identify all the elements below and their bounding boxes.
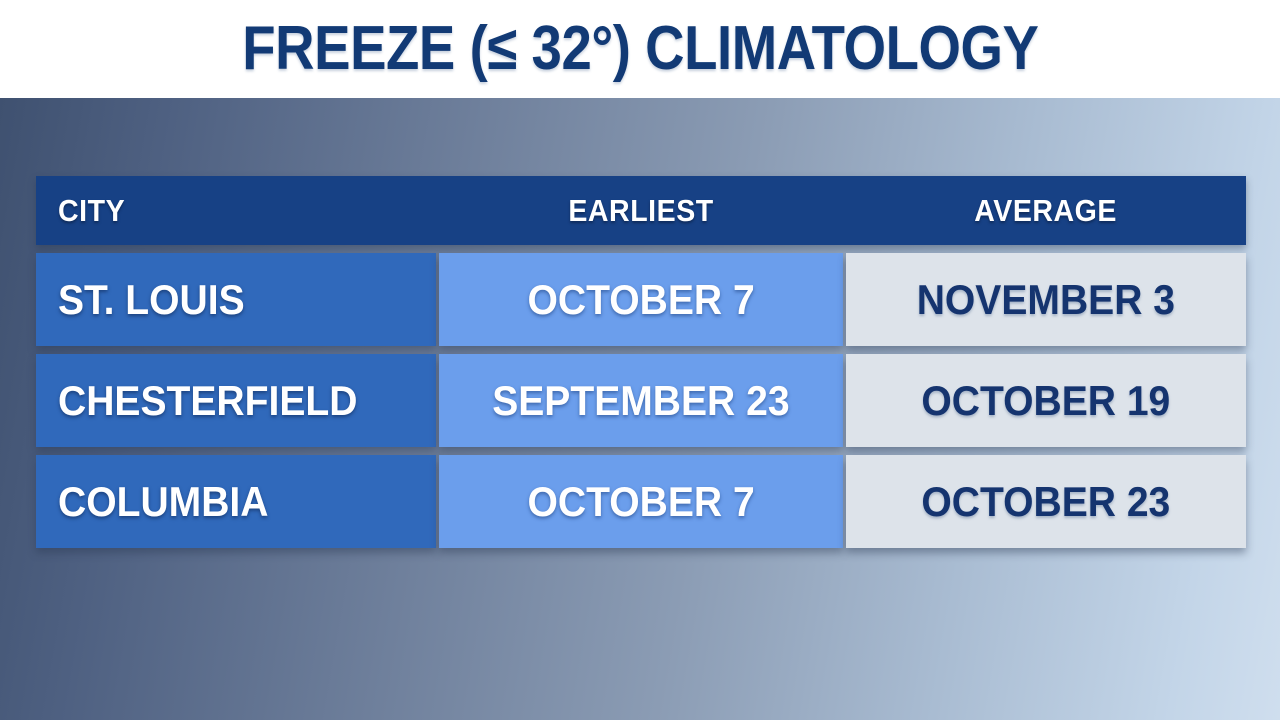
title-band: FREEZE (≤ 32°) CLIMATOLOGY <box>0 0 1280 98</box>
column-header-earliest: EARLIEST <box>439 176 843 245</box>
cell-earliest: SEPTEMBER 23 <box>439 354 843 447</box>
cell-city: COLUMBIA <box>36 455 436 548</box>
column-header-average: AVERAGE <box>846 176 1246 245</box>
table-header-row: CITY EARLIEST AVERAGE <box>36 176 1246 245</box>
table-row: ST. LOUIS OCTOBER 7 NOVEMBER 3 <box>36 253 1246 346</box>
cell-city: CHESTERFIELD <box>36 354 436 447</box>
cell-average: OCTOBER 23 <box>846 455 1246 548</box>
cell-city: ST. LOUIS <box>36 253 436 346</box>
cell-city-value: CHESTERFIELD <box>58 377 357 425</box>
column-header-city: CITY <box>36 176 436 245</box>
cell-earliest-value: OCTOBER 7 <box>527 478 754 526</box>
cell-earliest-value: OCTOBER 7 <box>527 276 754 324</box>
column-header-average-label: AVERAGE <box>975 193 1118 229</box>
column-header-earliest-label: EARLIEST <box>568 193 713 229</box>
cell-earliest-value: SEPTEMBER 23 <box>492 377 789 425</box>
cell-earliest: OCTOBER 7 <box>439 455 843 548</box>
cell-average: NOVEMBER 3 <box>846 253 1246 346</box>
table-row: CHESTERFIELD SEPTEMBER 23 OCTOBER 19 <box>36 354 1246 447</box>
column-header-city-label: CITY <box>58 193 125 229</box>
cell-average-value: OCTOBER 23 <box>922 478 1171 526</box>
cell-average-value: NOVEMBER 3 <box>917 276 1175 324</box>
page-title: FREEZE (≤ 32°) CLIMATOLOGY <box>242 18 1038 80</box>
cell-average: OCTOBER 19 <box>846 354 1246 447</box>
cell-earliest: OCTOBER 7 <box>439 253 843 346</box>
table-row: COLUMBIA OCTOBER 7 OCTOBER 23 <box>36 455 1246 548</box>
freeze-climatology-table: CITY EARLIEST AVERAGE ST. LOUIS OCTOBER … <box>36 176 1246 556</box>
cell-city-value: ST. LOUIS <box>58 276 245 324</box>
cell-average-value: OCTOBER 19 <box>922 377 1171 425</box>
cell-city-value: COLUMBIA <box>58 478 268 526</box>
